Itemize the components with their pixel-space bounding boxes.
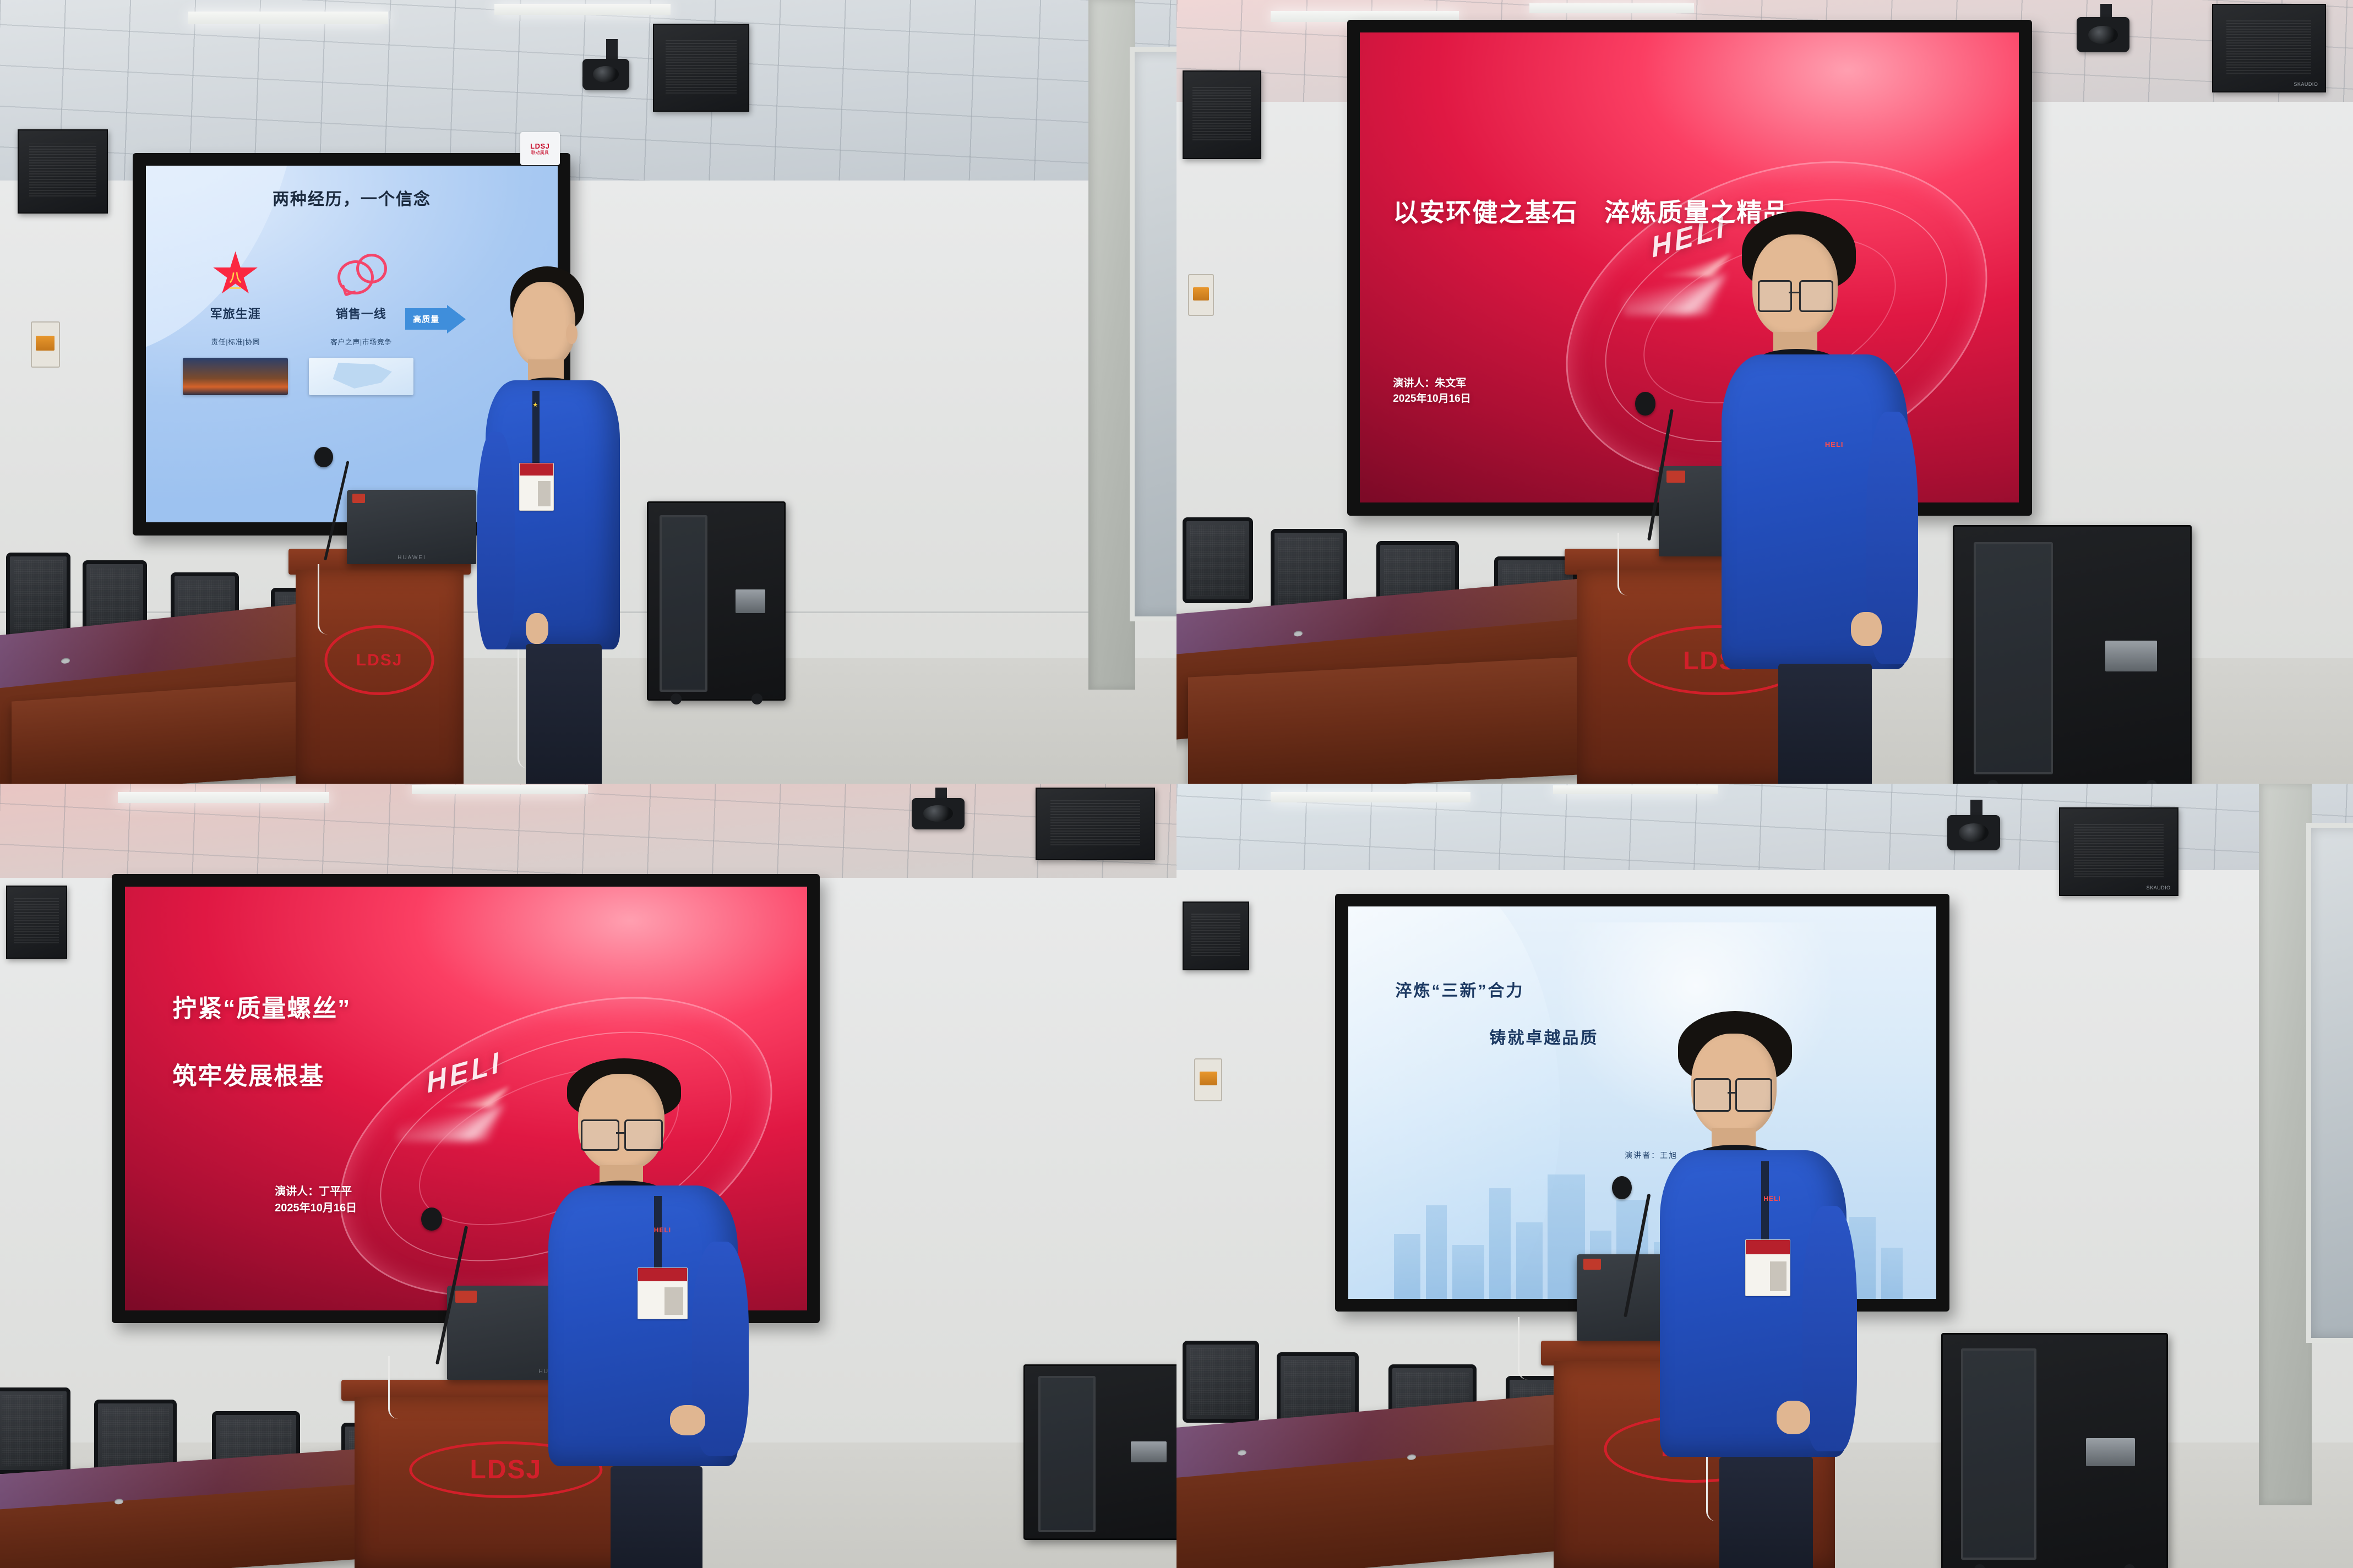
microphone-head [1635, 392, 1655, 416]
id-badge [1745, 1239, 1790, 1296]
red-star-bayi-icon: 八一 [213, 252, 259, 298]
brand-sub: 联动属具 [531, 151, 549, 155]
cable [1617, 533, 1654, 595]
column-caption: 军旅生涯 [183, 304, 288, 322]
slide-title-line1: 淬炼“三新”合力 [1395, 977, 1524, 1001]
fire-alarm-box [31, 321, 60, 368]
brand-mark: LDSJ [530, 143, 549, 150]
presenter-line: 演讲人：丁平平 [275, 1183, 357, 1200]
chair [1183, 517, 1253, 604]
curtain [1088, 0, 1135, 690]
id-badge [519, 463, 554, 511]
equipment-case [1023, 1364, 1176, 1540]
microphone-head [314, 447, 333, 467]
presenter: HELI [1647, 1011, 1906, 1568]
glasses-icon [1758, 280, 1792, 312]
column-keywords: 责任|标准|协同 [183, 336, 288, 347]
arrow-label: 高质量 [405, 308, 447, 330]
glasses-icon [1799, 280, 1833, 312]
map-thumbnail [309, 358, 414, 395]
date-line: 2025年10月16日 [275, 1200, 357, 1216]
window [2306, 823, 2353, 1342]
ceiling [0, 784, 1176, 886]
slide-title-line1: 拧紧“质量螺丝” [172, 988, 351, 1024]
speech-bubble-icon [335, 252, 387, 298]
star-glyph: 八一 [224, 272, 247, 294]
wall-speaker-icon: SKAUDIO [2212, 4, 2326, 92]
ptz-camera-icon [912, 798, 965, 829]
presenter-line: 演讲人：朱文军 [1393, 376, 1471, 392]
chair [6, 553, 71, 639]
presenter: HELI [530, 1058, 800, 1568]
photo-collage: LDSJ 联动属具 两种经历，一个信念 八一 [0, 0, 2353, 1568]
chest-logo: HELI [1825, 440, 1844, 449]
wall-speaker-icon [1183, 70, 1261, 159]
chest-logo: HELI [1763, 1195, 1780, 1203]
cable [388, 1356, 425, 1419]
speaker-brand-label: SKAUDIO [2147, 885, 2171, 890]
panel-bottom-right: SKAUDIO [1176, 784, 2353, 1568]
panel-top-left: LDSJ 联动属具 两种经历，一个信念 八一 [0, 0, 1176, 784]
photo-thumbnail [183, 358, 288, 395]
right-arrow-icon: 高质量 [405, 305, 466, 334]
fire-alarm-box [1194, 1058, 1222, 1101]
column-keywords: 客户之声|市场竞争 [309, 336, 414, 347]
wall-speaker-icon [1183, 902, 1250, 970]
ptz-camera-icon [1947, 815, 2000, 850]
wall-speaker-icon [6, 886, 67, 958]
panel-bottom-left: HELI 拧紧“质量螺丝” 筑牢发展根基 演讲人：丁平平 2025年10月16日 [0, 784, 1176, 1568]
laptop-brand: HUAWEI [397, 555, 426, 561]
slide-title: 两种经历，一个信念 [146, 185, 558, 210]
microphone-head [1612, 1176, 1632, 1200]
wall-speaker-icon [1036, 788, 1156, 860]
equipment-case [1941, 1333, 2168, 1568]
podium: LDSJ [288, 549, 471, 784]
presenter: HELI [1706, 211, 1965, 784]
chair [1183, 1341, 1259, 1423]
id-badge [638, 1267, 687, 1320]
slide-title-line2: 筑牢发展根基 [172, 1056, 324, 1091]
ptz-camera-icon [582, 59, 629, 90]
ptz-camera-icon [2077, 17, 2129, 52]
fire-alarm-box [1188, 274, 1214, 315]
ldsj-podium-logo: LDSJ [325, 625, 434, 695]
chair [0, 1387, 70, 1474]
glasses-icon [1735, 1078, 1772, 1112]
cable [1518, 1317, 1555, 1380]
conference-table-front [1188, 655, 1624, 784]
glasses-icon [581, 1119, 619, 1151]
slide-column-sales: 销售一线 客户之声|市场竞争 [309, 252, 414, 395]
equipment-case [1953, 525, 2191, 784]
glasses-icon [624, 1119, 663, 1151]
speaker-brand-label: SKAUDIO [2294, 81, 2318, 87]
slide-column-military: 八一 军旅生涯 责任|标准|协同 [183, 252, 288, 395]
wall-speaker-icon [18, 129, 108, 214]
column-caption: 销售一线 [309, 304, 414, 322]
date-line: 2025年10月16日 [1393, 391, 1471, 407]
equipment-case [647, 501, 786, 701]
cable [318, 564, 355, 635]
laptop: HUAWEI [347, 490, 476, 564]
curtain [2259, 784, 2312, 1505]
podium-logo-text: LDSJ [356, 651, 403, 670]
chest-logo: HELI [654, 1226, 671, 1234]
ldsj-brand-chip: LDSJ 联动属具 [520, 132, 560, 165]
wall-speaker-icon: SKAUDIO [2059, 807, 2179, 896]
window [1130, 47, 1176, 621]
slide-title-line2: 铸就卓越品质 [1489, 1024, 1598, 1048]
panel-top-right: SKAUDIO HELI 以安环健之基石 淬炼质量之精品 演讲人：朱文军 [1176, 0, 2353, 784]
wall-speaker-icon [653, 24, 749, 112]
glasses-icon [1693, 1078, 1730, 1112]
